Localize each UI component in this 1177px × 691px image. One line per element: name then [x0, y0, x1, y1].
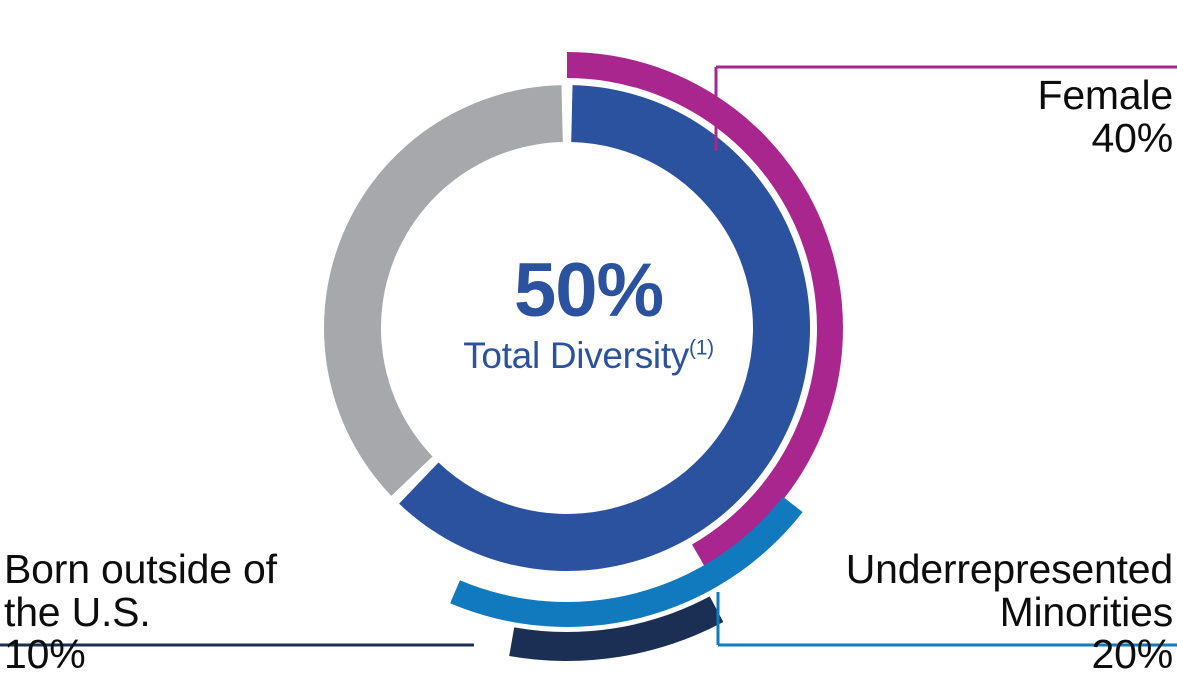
callout-minorities-label-line1: Underrepresented	[846, 548, 1173, 591]
callout-female: Female 40%	[1037, 74, 1173, 159]
callout-born-outside: Born outside of the U.S. 10%	[4, 548, 277, 676]
callout-female-label: Female	[1037, 74, 1173, 117]
callout-born-outside-label-line1: Born outside of	[4, 548, 277, 591]
callout-female-value: 40%	[1037, 117, 1173, 160]
callout-minorities-value: 20%	[846, 633, 1173, 676]
callout-minorities-label-line2: Minorities	[846, 591, 1173, 634]
callout-born-outside-label-line2: the U.S.	[4, 591, 277, 634]
callout-born-outside-value: 10%	[4, 633, 277, 676]
callout-minorities: Underrepresented Minorities 20%	[846, 548, 1173, 676]
